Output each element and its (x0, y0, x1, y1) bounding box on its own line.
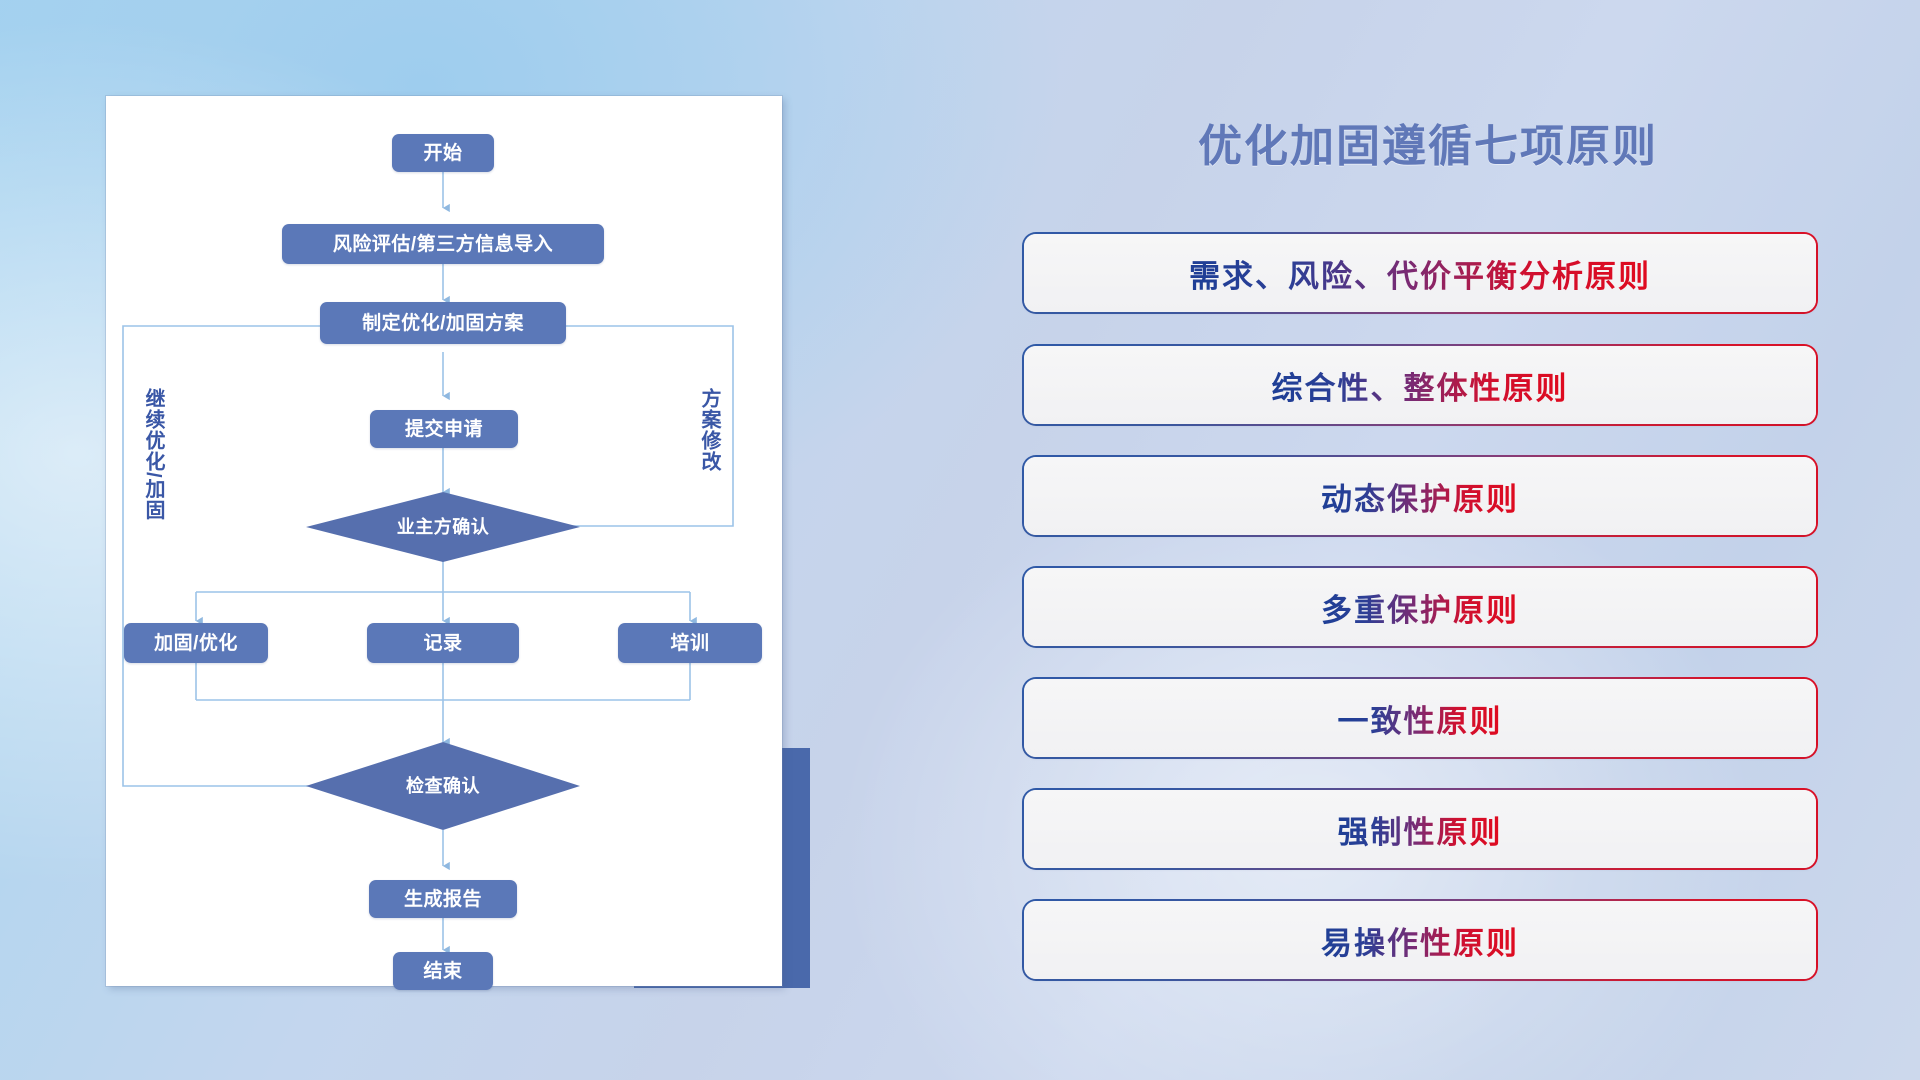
principle-card-1[interactable]: 需求、风险、代价平衡分析原则 (1024, 234, 1816, 312)
flow-node-check-confirm[interactable]: 检查确认 (306, 742, 580, 830)
flow-node-risk-assessment[interactable]: 风险评估/第三方信息导入 (282, 224, 604, 264)
principle-card-3[interactable]: 动态保护原则 (1024, 457, 1816, 535)
flowchart-canvas: 开始 风险评估/第三方信息导入 制定优化/加固方案 提交申请 业主方确认 加固/… (106, 96, 782, 986)
principle-label: 多重保护原则 (1321, 585, 1519, 630)
principles-panel: 优化加固遵循七项原则 需求、风险、代价平衡分析原则 综合性、整体性原则 动态保护… (1000, 96, 1856, 1016)
principle-card-6[interactable]: 强制性原则 (1024, 790, 1816, 868)
principle-card-7[interactable]: 易操作性原则 (1024, 901, 1816, 979)
flow-node-plan[interactable]: 制定优化/加固方案 (320, 302, 566, 344)
flow-node-training[interactable]: 培训 (618, 623, 762, 663)
flow-node-label: 制定优化/加固方案 (362, 314, 524, 333)
edge-label-plan-revision: 方案修改 (698, 388, 719, 472)
panel-title: 优化加固遵循七项原则 (1000, 110, 1856, 174)
principle-label: 动态保护原则 (1321, 474, 1519, 519)
principle-card-4[interactable]: 多重保护原则 (1024, 568, 1816, 646)
flow-node-end[interactable]: 结束 (393, 952, 493, 990)
edge-label-continue-optimize: 继续优化/加固 (142, 388, 163, 521)
flow-node-label: 培训 (670, 634, 709, 653)
flow-node-label: 业主方确认 (397, 518, 490, 536)
flow-node-label: 开始 (423, 144, 462, 163)
flow-node-reinforce-optimize[interactable]: 加固/优化 (124, 623, 268, 663)
principle-label: 强制性原则 (1338, 807, 1503, 852)
flow-node-label: 风险评估/第三方信息导入 (333, 235, 553, 254)
flow-node-label: 结束 (423, 962, 462, 981)
flow-node-label: 提交申请 (405, 420, 483, 439)
principle-label: 一致性原则 (1338, 696, 1503, 741)
flow-node-label: 生成报告 (404, 890, 482, 909)
flowchart-card: 开始 风险评估/第三方信息导入 制定优化/加固方案 提交申请 业主方确认 加固/… (106, 96, 782, 986)
flow-node-start[interactable]: 开始 (392, 134, 494, 172)
principle-label: 需求、风险、代价平衡分析原则 (1189, 251, 1651, 296)
principle-card-5[interactable]: 一致性原则 (1024, 679, 1816, 757)
flow-node-owner-confirm[interactable]: 业主方确认 (306, 492, 580, 562)
flow-node-record[interactable]: 记录 (367, 623, 519, 663)
principle-label: 综合性、整体性原则 (1272, 363, 1569, 408)
principle-card-2[interactable]: 综合性、整体性原则 (1024, 346, 1816, 424)
flow-node-label: 加固/优化 (154, 634, 238, 653)
principle-label: 易操作性原则 (1321, 918, 1519, 963)
flow-node-submit-application[interactable]: 提交申请 (370, 410, 518, 448)
flow-node-label: 记录 (423, 634, 462, 653)
flow-node-label: 检查确认 (406, 777, 480, 795)
flow-node-generate-report[interactable]: 生成报告 (369, 880, 517, 918)
